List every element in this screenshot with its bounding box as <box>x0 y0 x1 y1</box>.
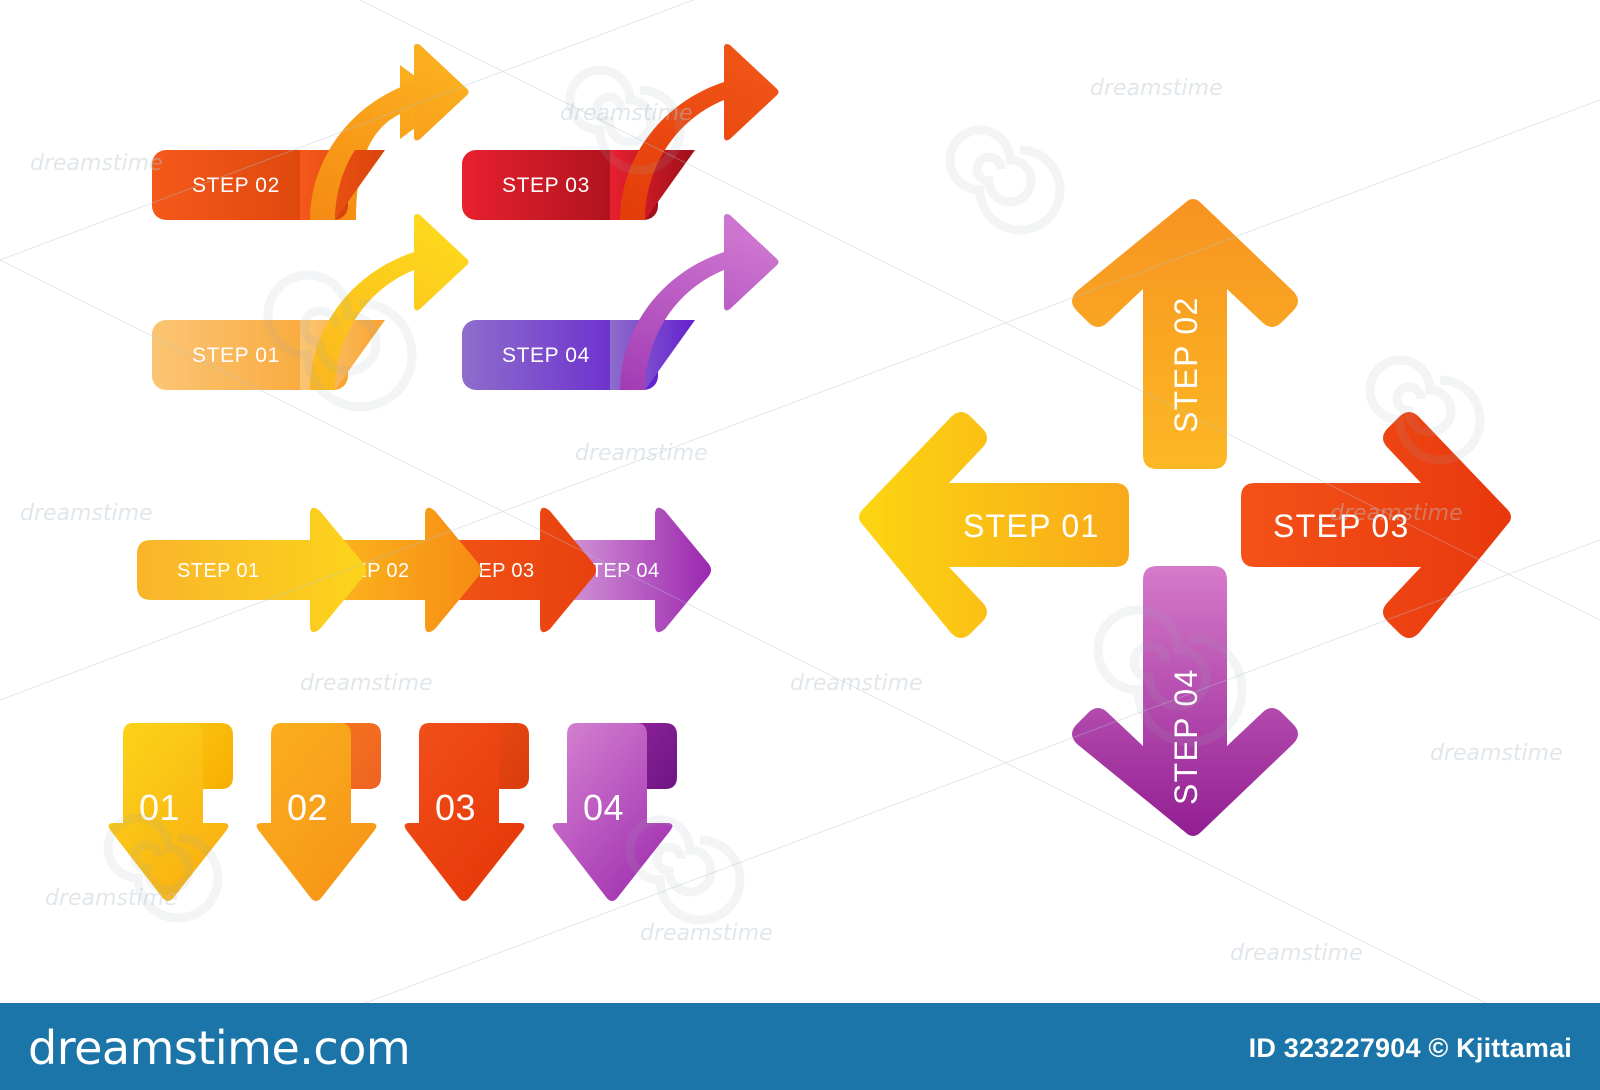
number-badge-label-1: 02 <box>287 787 328 828</box>
watermark-text: dreamstime <box>1230 941 1363 966</box>
number-badge-label-3: 04 <box>583 787 624 828</box>
cross-arrow-left[interactable]: STEP 01 <box>859 412 1129 638</box>
watermark-text: dreamstime <box>575 441 708 466</box>
cross-arrow-right[interactable]: STEP 03 <box>1241 412 1511 638</box>
number-badge-03[interactable]: 03 <box>405 723 529 901</box>
cross-svg: STEP 02 STEP 01 STEP 03 STEP 04 <box>845 185 1525 850</box>
bent-arrow-step-01[interactable]: STEP 01 <box>152 214 469 390</box>
cross-label-left: STEP 01 <box>963 508 1100 544</box>
image-id-credit: ID 323227904 © Kjittamai <box>1249 1033 1572 1064</box>
number-badge-svg: 01 02 03 04 <box>115 715 715 910</box>
bent-arrow-label-0: STEP 02 <box>192 174 280 197</box>
watermark-text: dreamstime <box>1090 76 1223 101</box>
number-badge-04[interactable]: 04 <box>553 723 677 901</box>
bent-arrow-label-2: STEP 01 <box>192 344 280 367</box>
watermark-text: dreamstime <box>20 501 153 526</box>
bent-arrow-svg: STEP 02 STEP 03 STEP 01 STEP <box>150 40 770 420</box>
chevron-label-0: STEP 01 <box>177 560 259 582</box>
watermark-text: dreamstime <box>300 671 433 696</box>
cross-label-right: STEP 03 <box>1273 508 1410 544</box>
bent-arrow-label-1: STEP 03 <box>502 174 590 197</box>
number-badge-group: 01 02 03 04 <box>115 715 715 910</box>
number-badge-02[interactable]: 02 <box>257 723 381 901</box>
number-badge-label-2: 03 <box>435 787 476 828</box>
chevron-step-01[interactable]: STEP 01 <box>137 508 366 632</box>
dreamstime-logo-text: dreamstime.com <box>28 1021 410 1075</box>
dreamstime-logo[interactable]: dreamstime.com <box>28 1021 410 1075</box>
bent-arrow-group: STEP 02 STEP 03 STEP 01 STEP <box>150 40 770 420</box>
chevron-strip-svg: STEP 04 STEP 03 STEP 02 STEP 01 <box>135 495 720 645</box>
watermark-text: dreamstime <box>640 921 773 946</box>
infographic-canvas: STEP 02 STEP 03 STEP 01 STEP <box>0 0 1600 1090</box>
cross-arrow-down[interactable]: STEP 04 <box>1072 566 1298 836</box>
watermark-text: dreamstime <box>30 151 163 176</box>
cross-arrow-up[interactable]: STEP 02 <box>1072 199 1298 469</box>
bent-arrow-step-04[interactable]: STEP 04 <box>462 214 779 390</box>
bent-arrow-step-03[interactable]: STEP 03 <box>462 44 779 220</box>
bent-arrow-step-02[interactable]: STEP 02 <box>152 44 469 220</box>
bent-arrow-label-3: STEP 04 <box>502 344 590 367</box>
cross-label-down: STEP 04 <box>1168 668 1204 805</box>
number-badge-label-0: 01 <box>139 787 180 828</box>
cross-label-up: STEP 02 <box>1168 296 1204 433</box>
footer-bar: dreamstime.com ID 323227904 © Kjittamai <box>0 1003 1600 1090</box>
number-badge-01[interactable]: 01 <box>109 723 233 901</box>
cross-group: STEP 02 STEP 01 STEP 03 STEP 04 <box>845 185 1525 850</box>
chevron-strip-group: STEP 04 STEP 03 STEP 02 STEP 01 <box>135 495 720 645</box>
